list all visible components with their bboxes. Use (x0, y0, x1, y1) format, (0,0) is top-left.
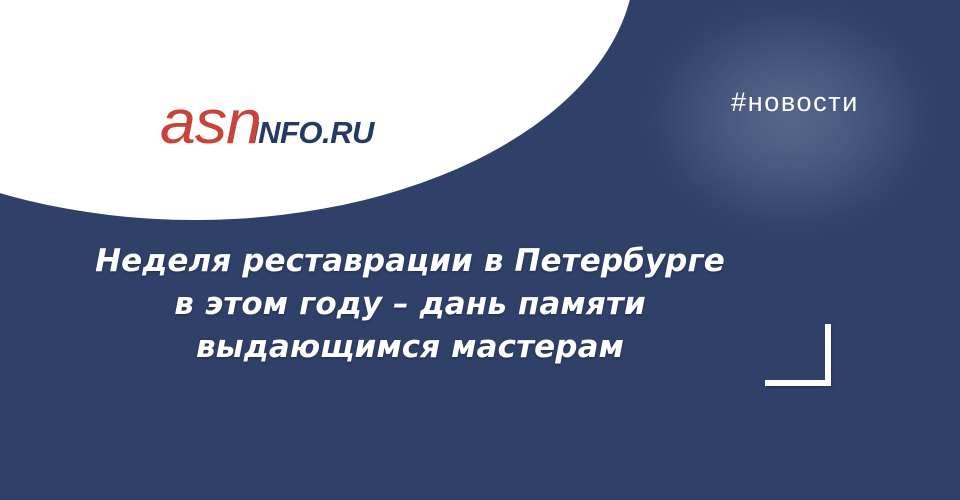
headline: Неделя реставрации в Петербурге в этом г… (70, 240, 750, 369)
headline-line-1: Неделя реставрации в Петербурге (70, 240, 750, 283)
logo-secondary-text: INFO.RU (250, 117, 374, 148)
asninfo-logo[interactable]: asn INFO.RU (160, 92, 374, 154)
headline-line-3: выдающимся мастерам (70, 326, 750, 369)
corner-bracket-decoration (765, 324, 831, 386)
headline-line-2: в этом году – дань памяти (70, 283, 750, 326)
news-card: asn INFO.RU #новости Неделя реставрации … (0, 0, 960, 500)
logo-primary-text: asn (160, 92, 261, 154)
hashtag-label[interactable]: #новости (715, 88, 875, 118)
